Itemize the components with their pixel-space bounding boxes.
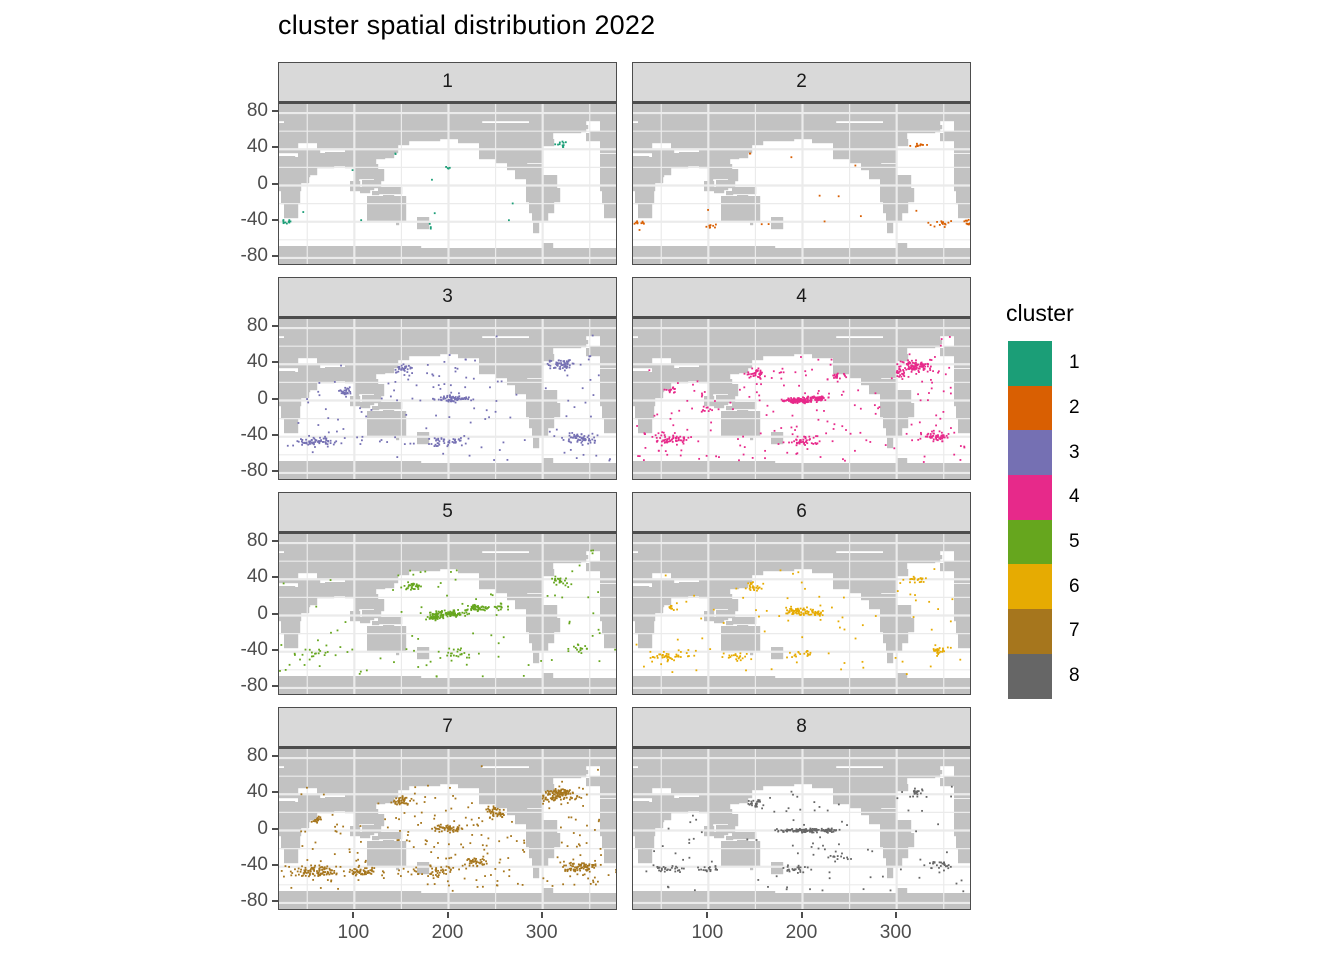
x-axis-label: 300	[526, 922, 558, 944]
x-axis-label: 200	[432, 922, 464, 944]
y-axis-tick	[272, 183, 278, 185]
facet-strip-label-8: 8	[632, 707, 971, 747]
legend-label-3: 3	[1069, 442, 1080, 464]
legend-item-8: 8	[1008, 654, 1080, 699]
y-axis-label: 0	[210, 388, 268, 410]
x-axis-tick	[801, 912, 803, 918]
legend-item-3: 3	[1008, 430, 1080, 475]
legend-label-4: 4	[1069, 486, 1080, 508]
legend-item-2: 2	[1008, 386, 1080, 431]
map-canvas-6	[632, 532, 971, 695]
y-axis-tick	[272, 110, 278, 112]
y-axis-tick	[272, 791, 278, 793]
facet-panel-7: 7	[278, 707, 617, 910]
facet-panel-3: 3	[278, 277, 617, 480]
y-axis-tick	[272, 434, 278, 436]
facet-strip-label-4: 4	[632, 277, 971, 317]
facet-strip-label-5: 5	[278, 492, 617, 532]
legend-item-6: 6	[1008, 564, 1080, 609]
y-axis-label: 40	[210, 781, 268, 803]
y-axis-label: 80	[210, 315, 268, 337]
map-canvas-1	[278, 102, 617, 265]
legend-item-7: 7	[1008, 609, 1080, 654]
y-axis-tick	[272, 255, 278, 257]
y-axis-tick	[272, 613, 278, 615]
x-axis-tick	[895, 912, 897, 918]
legend-swatch-5	[1008, 520, 1052, 565]
map-canvas-7	[278, 747, 617, 910]
plot-area: cluster spatial distribution 2022 123456…	[0, 0, 1344, 960]
legend-label-5: 5	[1069, 531, 1080, 553]
map-canvas-8	[632, 747, 971, 910]
y-axis-tick	[272, 470, 278, 472]
y-axis-label: -40	[210, 854, 268, 876]
legend-swatch-8	[1008, 654, 1052, 699]
x-axis-tick	[706, 912, 708, 918]
facet-panel-8: 8	[632, 707, 971, 910]
x-axis-label: 100	[337, 922, 369, 944]
legend-label-1: 1	[1069, 352, 1080, 374]
y-axis-tick	[272, 146, 278, 148]
x-axis-tick	[541, 912, 543, 918]
y-axis-tick	[272, 540, 278, 542]
legend-item-4: 4	[1008, 475, 1080, 520]
x-axis-tick	[447, 912, 449, 918]
legend-swatch-7	[1008, 609, 1052, 654]
y-axis-label: 80	[210, 745, 268, 767]
facet-strip-label-3: 3	[278, 277, 617, 317]
facet-panel-1: 1	[278, 62, 617, 265]
facet-panel-4: 4	[632, 277, 971, 480]
legend-swatch-4	[1008, 475, 1052, 520]
legend-items: 12345678	[1008, 341, 1080, 699]
x-axis-label: 100	[691, 922, 723, 944]
y-axis-label: 80	[210, 100, 268, 122]
facet-strip-label-2: 2	[632, 62, 971, 102]
y-axis-label: 0	[210, 603, 268, 625]
y-axis-tick	[272, 576, 278, 578]
legend: cluster 12345678	[1008, 300, 1080, 699]
y-axis-tick	[272, 649, 278, 651]
facet-strip-label-7: 7	[278, 707, 617, 747]
map-canvas-5	[278, 532, 617, 695]
legend-label-8: 8	[1069, 665, 1080, 687]
y-axis-tick	[272, 685, 278, 687]
legend-item-1: 1	[1008, 341, 1080, 386]
y-axis-tick	[272, 361, 278, 363]
legend-title: cluster	[1006, 300, 1080, 327]
y-axis-tick	[272, 828, 278, 830]
y-axis-label: 0	[210, 818, 268, 840]
legend-swatch-2	[1008, 386, 1052, 431]
y-axis-label: -80	[210, 675, 268, 697]
y-axis-label: -40	[210, 424, 268, 446]
facet-panel-2: 2	[632, 62, 971, 265]
y-axis-label: -40	[210, 209, 268, 231]
legend-label-7: 7	[1069, 620, 1080, 642]
x-axis-tick	[352, 912, 354, 918]
y-axis-label: 40	[210, 351, 268, 373]
y-axis-label: 40	[210, 136, 268, 158]
y-axis-label: 80	[210, 530, 268, 552]
facet-panel-5: 5	[278, 492, 617, 695]
facet-panel-6: 6	[632, 492, 971, 695]
y-axis-tick	[272, 755, 278, 757]
y-axis-tick	[272, 900, 278, 902]
x-axis-label: 300	[880, 922, 912, 944]
legend-item-5: 5	[1008, 520, 1080, 565]
y-axis-label: 40	[210, 566, 268, 588]
y-axis-label: -80	[210, 890, 268, 912]
legend-swatch-3	[1008, 430, 1052, 475]
map-canvas-3	[278, 317, 617, 480]
y-axis-tick	[272, 325, 278, 327]
x-axis-label: 200	[786, 922, 818, 944]
map-canvas-2	[632, 102, 971, 265]
map-canvas-4	[632, 317, 971, 480]
y-axis-label: -80	[210, 245, 268, 267]
y-axis-label: -40	[210, 639, 268, 661]
y-axis-tick	[272, 398, 278, 400]
legend-swatch-1	[1008, 341, 1052, 386]
legend-label-6: 6	[1069, 576, 1080, 598]
legend-swatch-6	[1008, 564, 1052, 609]
y-axis-label: 0	[210, 173, 268, 195]
legend-label-2: 2	[1069, 397, 1080, 419]
y-axis-tick	[272, 219, 278, 221]
facet-strip-label-1: 1	[278, 62, 617, 102]
y-axis-label: -80	[210, 460, 268, 482]
y-axis-tick	[272, 864, 278, 866]
facet-strip-label-6: 6	[632, 492, 971, 532]
page-title: cluster spatial distribution 2022	[278, 10, 655, 41]
